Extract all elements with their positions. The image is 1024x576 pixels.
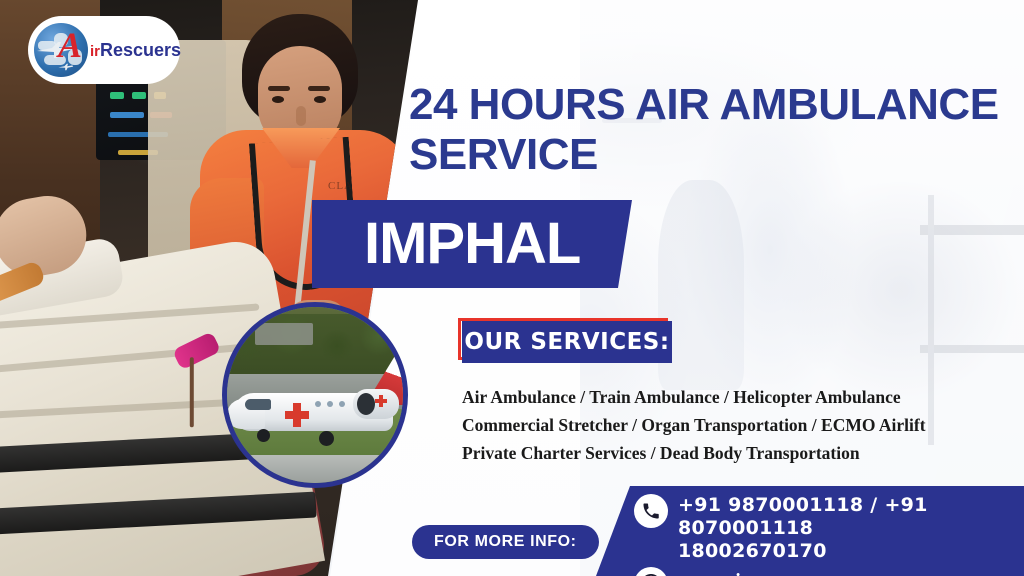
phone-row[interactable]: +91 9870001118 / +91 8070001118 18002670… xyxy=(634,494,1024,563)
logo-ir-text: ir xyxy=(90,43,100,60)
logo-letter-a: A xyxy=(58,27,82,63)
phone-line-2: 18002670170 xyxy=(678,540,1024,563)
services-badge-label: OUR SERVICES: xyxy=(464,329,669,355)
logo-rescuers-text: Rescuers xyxy=(100,40,181,60)
phone-line-1: +91 9870001118 / +91 8070001118 xyxy=(678,494,1024,540)
website-row[interactable]: www.airrescuers.com xyxy=(634,567,1024,576)
city-banner: IMPHAL xyxy=(312,200,632,288)
headline-line-2: SERVICE xyxy=(409,130,1009,180)
plane-circle-photo xyxy=(222,302,408,488)
red-cross-marking xyxy=(285,403,309,427)
website-url: www.airrescuers.com xyxy=(678,567,861,576)
contact-bar: +91 9870001118 / +91 8070001118 18002670… xyxy=(596,486,1024,576)
globe-logo-icon: A xyxy=(34,23,88,77)
for-more-info-badge: FOR MORE INFO: xyxy=(412,525,599,559)
headline-line-1: 24 HOURS AIR AMBULANCE xyxy=(409,80,999,129)
page-title: 24 HOURS AIR AMBULANCE SERVICE xyxy=(409,80,1009,180)
service-line: Private Charter Services / Dead Body Tra… xyxy=(462,439,992,467)
service-line: Air Ambulance / Train Ambulance / Helico… xyxy=(462,383,992,411)
our-services-badge: OUR SERVICES: xyxy=(462,321,672,363)
city-name: IMPHAL xyxy=(364,215,580,273)
for-more-info-label: FOR MORE INFO: xyxy=(434,533,577,551)
air-rescuers-logo[interactable]: A irRescuers xyxy=(28,16,180,84)
globe-icon xyxy=(634,567,668,576)
service-line: Commercial Stretcher / Organ Transportat… xyxy=(462,411,992,439)
air-ambulance-banner: CLA 24 HOURS AIR AMBULANCE SERVICE IMPHA… xyxy=(0,0,1024,576)
phone-icon xyxy=(634,494,668,528)
services-list: Air Ambulance / Train Ambulance / Helico… xyxy=(462,383,992,467)
